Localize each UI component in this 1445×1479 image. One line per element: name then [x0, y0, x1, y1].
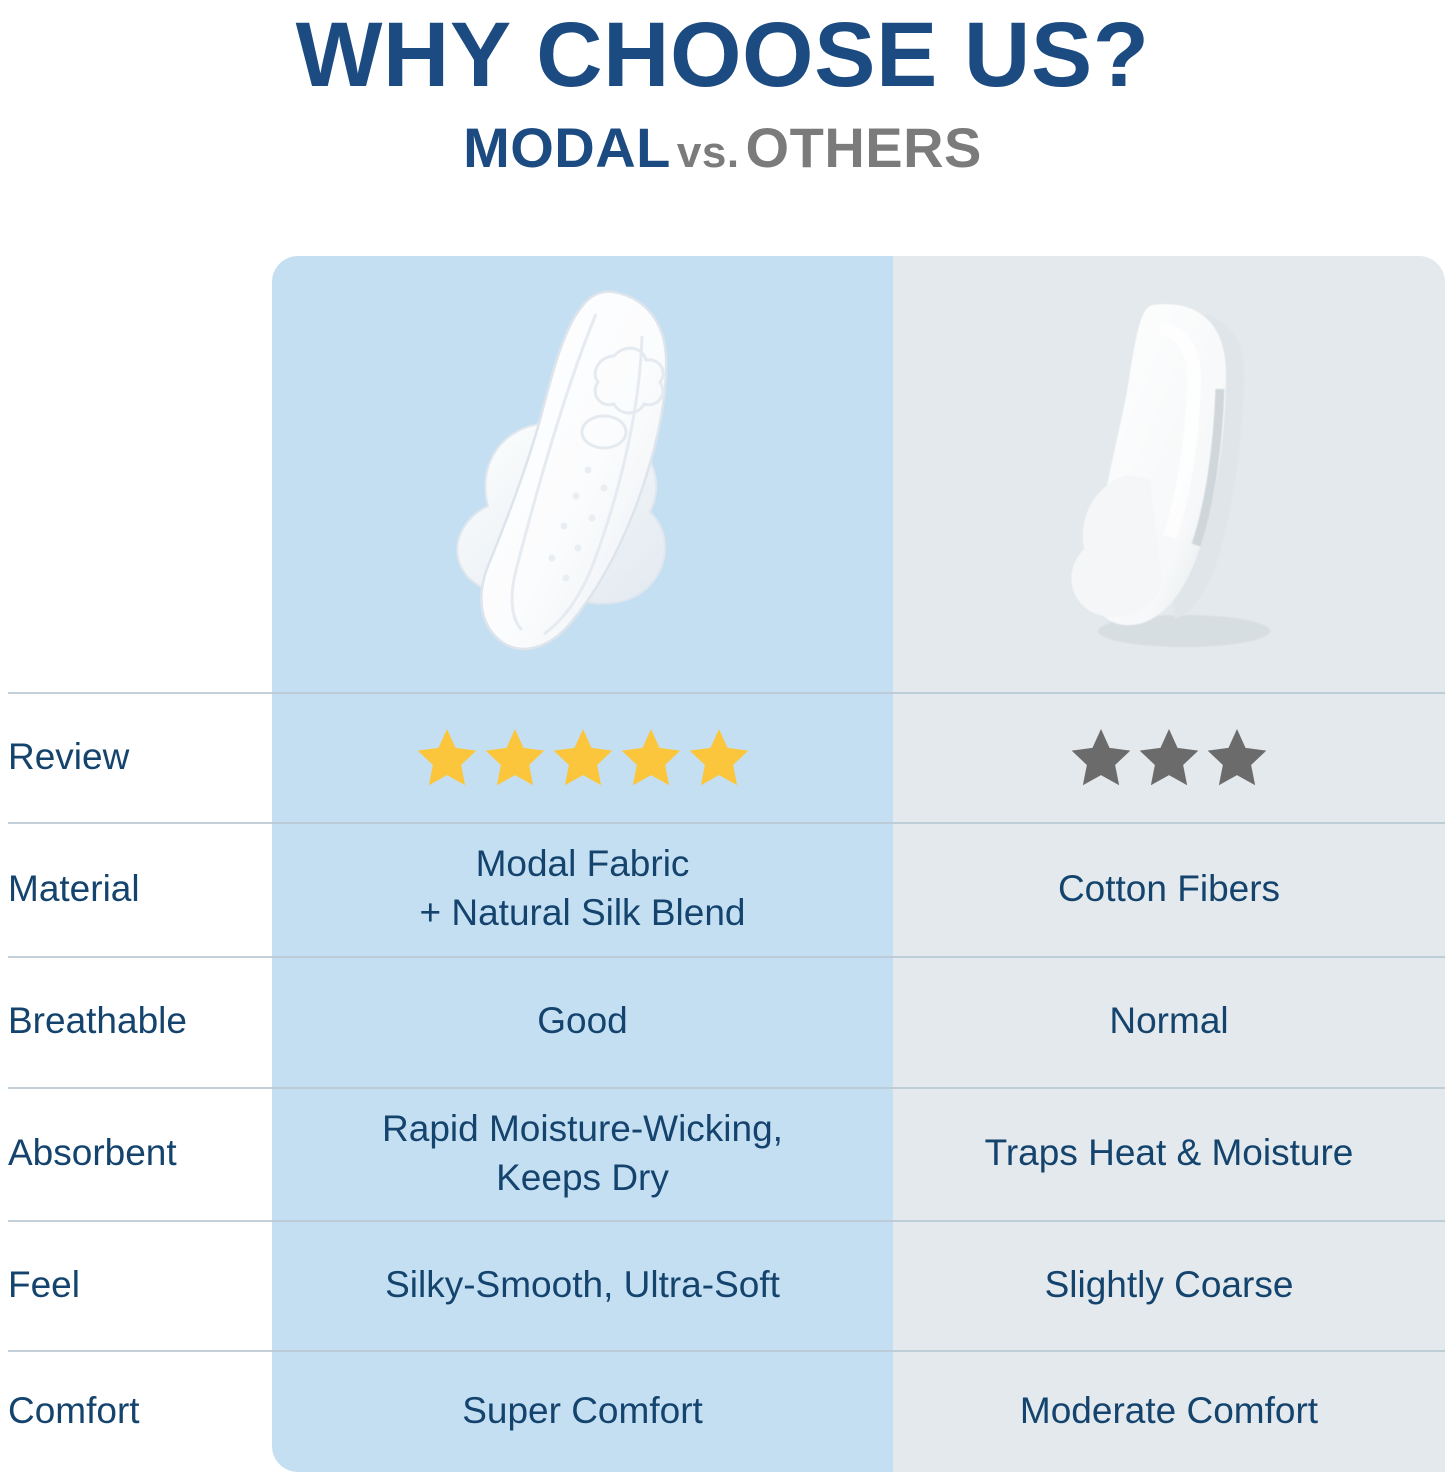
product-image-others-cell: [893, 256, 1445, 692]
row-value-comfort-others: Moderate Comfort: [893, 1350, 1445, 1472]
row-value-material-modal: Modal Fabric + Natural Silk Blend: [272, 822, 893, 956]
comparison-infographic: WHY CHOOSE US? MODALvs.OTHERS: [0, 0, 1445, 1479]
row-value-feel-modal: Silky-Smooth, Ultra-Soft: [272, 1220, 893, 1350]
star-gray-icon: [1136, 725, 1202, 789]
row-value-absorbent-others: Traps Heat & Moisture: [893, 1087, 1445, 1220]
row-label-comfort: Comfort: [0, 1350, 272, 1472]
row-label-feel: Feel: [0, 1220, 272, 1350]
star-filled-icon: [482, 725, 548, 789]
star-gray-icon: [1068, 725, 1134, 789]
product-image-modal-cell: [272, 256, 893, 692]
row-label-breathable: Breathable: [0, 956, 272, 1087]
subtitle-others: OTHERS: [746, 116, 982, 179]
review-stars-others: [893, 692, 1445, 822]
row-value-breathable-modal: Good: [272, 956, 893, 1087]
row-label-absorbent: Absorbent: [0, 1087, 272, 1220]
star-filled-icon: [618, 725, 684, 789]
table-row: Breathable Good Normal: [0, 956, 1445, 1087]
star-gray-icon: [1204, 725, 1270, 789]
row-label-review: Review: [0, 692, 272, 822]
sanitary-pad-others-icon: [1034, 279, 1304, 669]
page-subtitle: MODALvs.OTHERS: [0, 117, 1445, 179]
sanitary-pad-modal-icon: [418, 274, 748, 674]
table-row: Review: [0, 692, 1445, 822]
star-filled-icon: [686, 725, 752, 789]
row-value-absorbent-modal: Rapid Moisture-Wicking, Keeps Dry: [272, 1087, 893, 1220]
star-filled-icon: [414, 725, 480, 789]
subtitle-vs: vs.: [671, 128, 746, 177]
star-rating-modal: [414, 725, 752, 789]
product-image-row: [0, 256, 1445, 692]
row-value-feel-others: Slightly Coarse: [893, 1220, 1445, 1350]
page-title: WHY CHOOSE US?: [0, 6, 1445, 105]
row-value-material-others: Cotton Fibers: [893, 822, 1445, 956]
table-row: Material Modal Fabric + Natural Silk Ble…: [0, 822, 1445, 956]
row-value-comfort-modal: Super Comfort: [272, 1350, 893, 1472]
table-row: Absorbent Rapid Moisture-Wicking, Keeps …: [0, 1087, 1445, 1220]
row-value-breathable-others: Normal: [893, 956, 1445, 1087]
table-row: Comfort Super Comfort Moderate Comfort: [0, 1350, 1445, 1472]
table-row: Feel Silky-Smooth, Ultra-Soft Slightly C…: [0, 1220, 1445, 1350]
heading-block: WHY CHOOSE US? MODALvs.OTHERS: [0, 0, 1445, 179]
star-filled-icon: [550, 725, 616, 789]
subtitle-modal: MODAL: [463, 116, 671, 179]
review-stars-modal: [272, 692, 893, 822]
star-rating-others: [1068, 725, 1270, 789]
row-label-material: Material: [0, 822, 272, 956]
